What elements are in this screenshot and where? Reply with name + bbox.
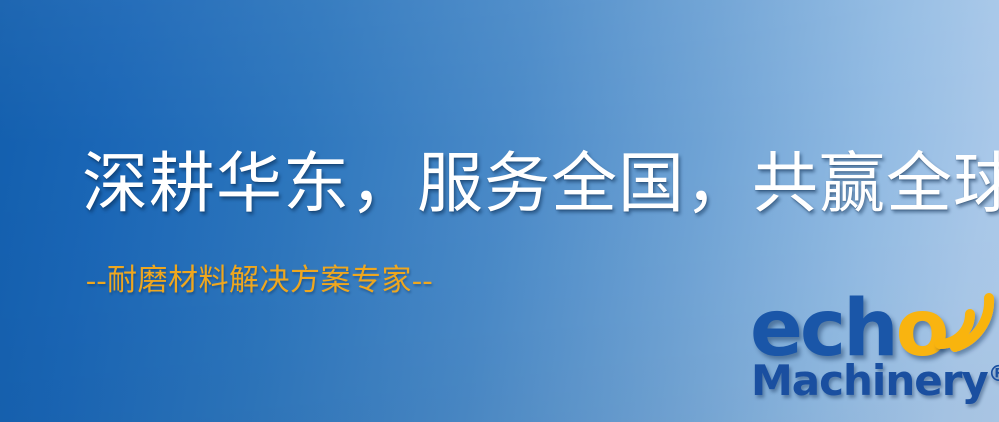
company-logo: echo Machinery®: [748, 294, 999, 422]
logo-machinery-text: Machinery®: [751, 360, 999, 402]
echo-signal-waves-icon: [930, 288, 999, 354]
registered-trademark-icon: ®: [988, 362, 999, 387]
banner-headline: 深耕华东，服务全国，共赢全球: [82, 152, 999, 218]
promo-banner: 深耕华东，服务全国，共赢全球 --耐磨材料解决方案专家-- echo Machi…: [0, 0, 999, 422]
logo-brand-secondary: Machinery: [751, 356, 988, 405]
banner-subtitle: --耐磨材料解决方案专家--: [86, 266, 433, 296]
